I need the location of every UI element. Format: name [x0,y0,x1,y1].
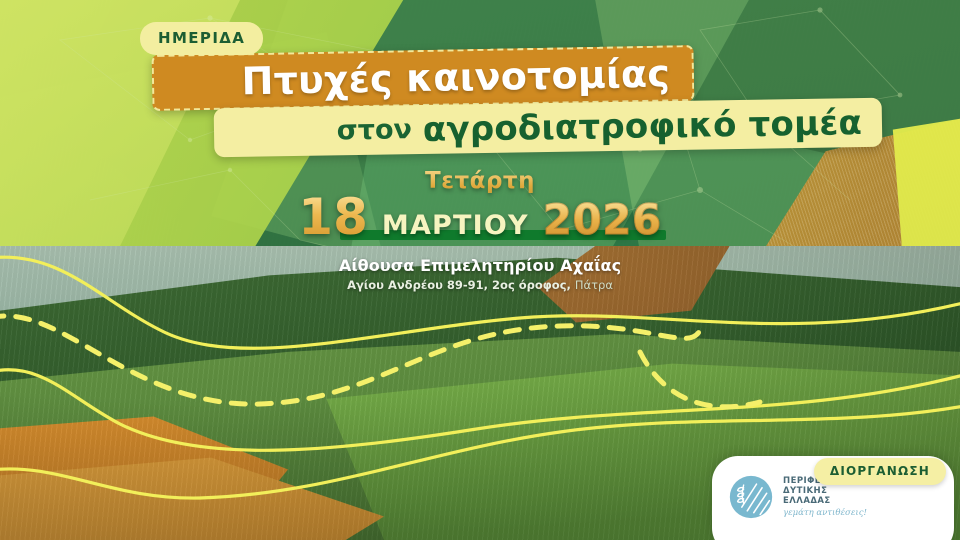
venue-city: Πάτρα [575,278,613,292]
date-month: ΜΑΡΤΙΟΥ [382,210,529,241]
venue-hall: Αίθουσα Επιμελητηρίου Αχαΐας [0,256,960,275]
date-row: 18 ΜΑΡΤΙΟΥ 2026 [292,192,667,242]
date-year: 2026 [543,199,662,241]
organiser-name-line-3: ΕΛΛΑΔΑΣ [783,496,867,506]
event-date: Τετάρτη 18 ΜΑΡΤΙΟΥ 2026 [0,168,960,242]
organiser-badge: ΔΙΟΡΓΑΝΩΣΗ [814,458,946,485]
organiser-slogan: γεμάτη αντιθέσεις! [783,508,867,518]
event-type-badge: ΗΜΕΡΙΔΑ [140,22,263,55]
title-line-2-prefix: στον [336,114,412,146]
event-poster: ΗΜΕΡΙΔΑ Πτυχές καινοτομίας στον αγροδιατ… [0,0,960,540]
event-venue: Αίθουσα Επιμελητηρίου Αχαΐας Αγίου Ανδρέ… [0,256,960,292]
title-line-2-main: αγροδιατροφικό τομέα [423,103,863,150]
title-band-secondary: στον αγροδιατροφικό τομέα [214,98,883,157]
date-day: 18 [298,192,368,242]
venue-street: Αγίου Ανδρέου 89-91, 2ος όροφος, [347,278,571,292]
organiser-name-line-2: ΔΥΤΙΚΗΣ [783,486,867,496]
date-weekday: Τετάρτη [0,168,960,194]
venue-address: Αγίου Ανδρέου 89-91, 2ος όροφος, Πάτρα [0,278,960,292]
region-of-western-greece-logo-icon [728,474,774,520]
title-line-1: Πτυχές καινοτομίας [241,54,692,100]
